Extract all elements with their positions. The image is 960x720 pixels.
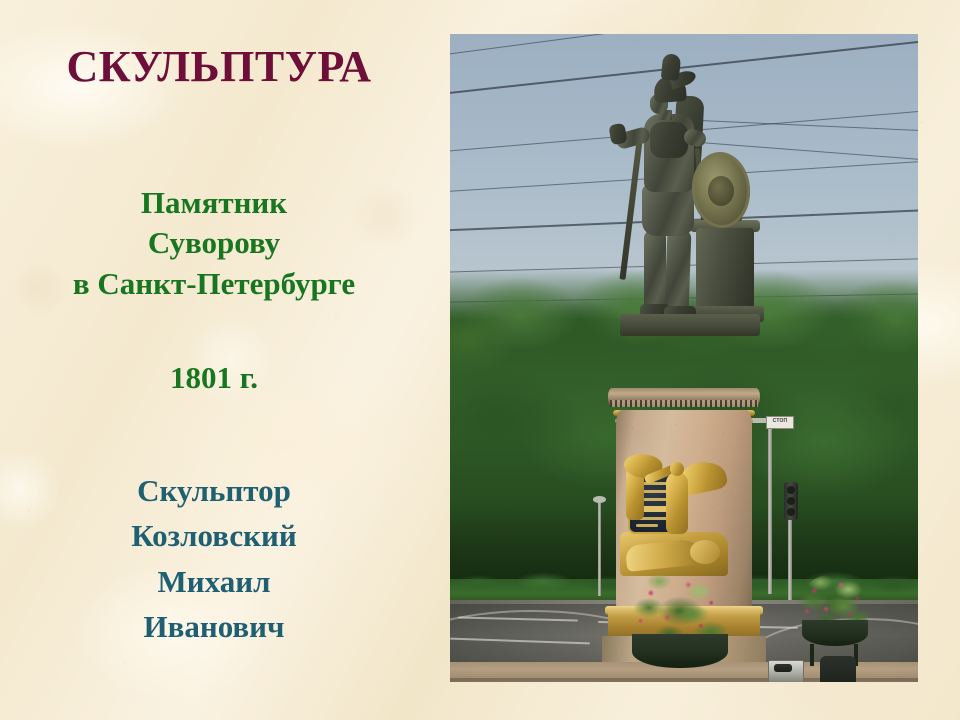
sculptor-name-block: Скульптор Козловский Михаил Иванович	[0, 468, 450, 649]
floodlight-housing	[820, 656, 856, 682]
lamp-post	[768, 422, 772, 594]
planter-stand	[810, 644, 814, 666]
relief-shield	[690, 540, 720, 564]
plaque-text-line	[636, 524, 658, 527]
flower-planter	[802, 620, 868, 646]
traffic-light-lamp	[787, 508, 795, 516]
text-column: СКУЛЬПТУРА Памятник Суворову в Санкт-Пет…	[0, 0, 450, 720]
monument-line-3: в Санкт-Петербурге	[0, 264, 428, 304]
photo-scene: СТОП	[450, 34, 918, 682]
street-pole	[598, 500, 601, 596]
stop-sign: СТОП	[766, 416, 794, 429]
page-title: СКУЛЬПТУРА	[0, 44, 450, 90]
floodlight-housing	[774, 664, 792, 672]
relief-angel-body	[666, 472, 688, 534]
traffic-light-pole	[788, 520, 792, 602]
relief-angel-head	[670, 462, 684, 476]
statue-breastplate	[650, 122, 688, 158]
sculptor-line-4: Иванович	[0, 604, 428, 649]
bronze-statue-suvorov	[600, 52, 770, 382]
statue-shield-boss	[708, 176, 734, 206]
monument-name-block: Памятник Суворову в Санкт-Петербурге	[0, 183, 450, 304]
flower-planter	[632, 634, 728, 668]
presentation-slide: СКУЛЬПТУРА Памятник Суворову в Санкт-Пет…	[0, 0, 960, 720]
statue-bronze-plinth	[620, 314, 760, 336]
statue-right-leg	[665, 230, 692, 313]
traffic-light-lamp	[787, 497, 795, 505]
statue-altar	[696, 228, 754, 314]
sculptor-line-1: Скульптор	[0, 468, 428, 513]
statue-left-leg	[644, 230, 666, 310]
statue-helmet-plume	[661, 53, 682, 81]
statue-left-hand	[608, 123, 627, 145]
monument-photograph: СТОП	[450, 34, 918, 682]
monument-year: 1801 г.	[0, 358, 450, 398]
statue-sword	[619, 140, 642, 280]
street-lamp-head	[593, 496, 606, 503]
monument-line-2: Суворову	[0, 223, 428, 263]
traffic-light-lamp	[787, 486, 795, 494]
sculptor-line-3: Михаил	[0, 559, 428, 604]
sculptor-line-2: Козловский	[0, 513, 428, 558]
traffic-light	[784, 482, 798, 520]
pedestal-bead-moulding	[610, 400, 758, 407]
gilded-bas-relief	[620, 448, 732, 590]
monument-line-1: Памятник	[0, 183, 428, 223]
